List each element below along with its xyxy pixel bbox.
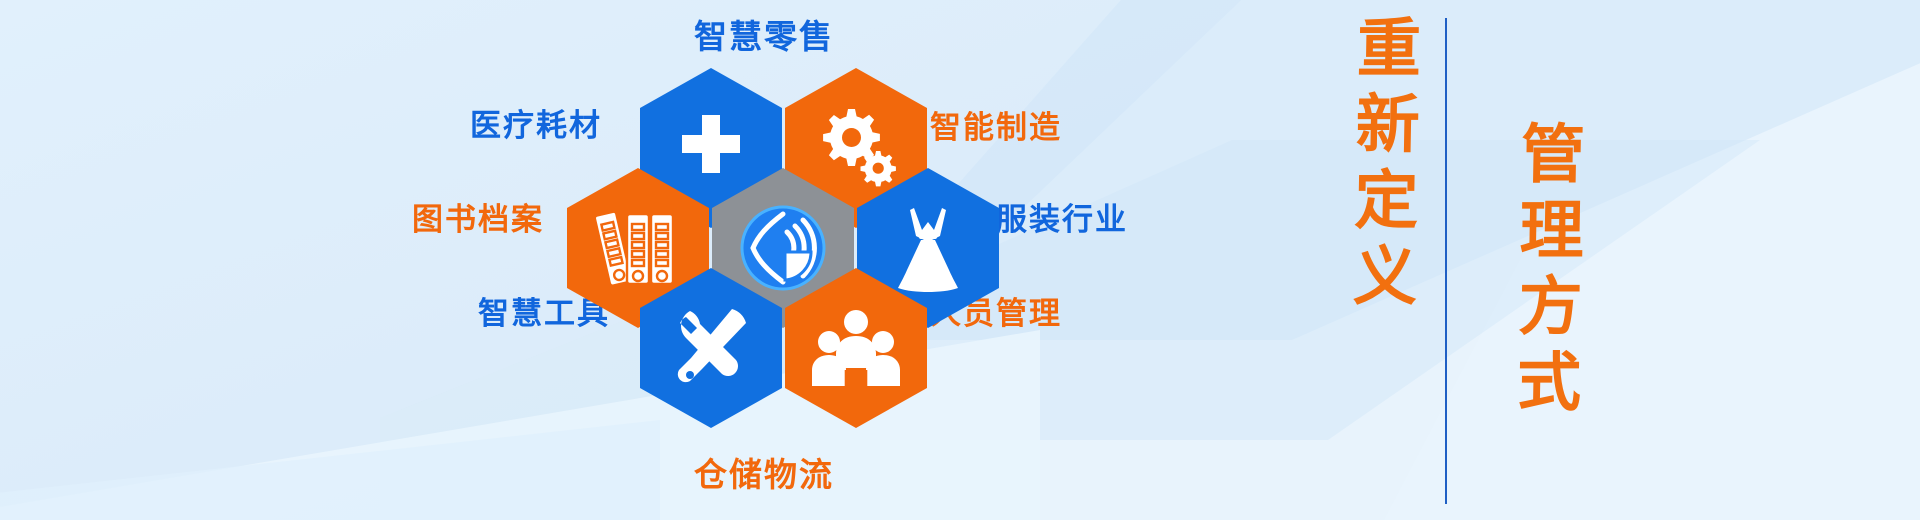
slogan-divider [1445, 18, 1447, 504]
label-smart-manufacturing: 智能制造 [930, 102, 1062, 147]
label-warehouse-logistics: 仓储物流 [694, 448, 834, 496]
gears-icon [814, 107, 898, 189]
label-smart-retail: 智慧零售 [694, 10, 834, 58]
wrench-screwdriver-icon [668, 305, 754, 391]
slogan-panel: 重新定义 管理方式 [1280, 0, 1680, 520]
rfid-signal-logo [737, 202, 829, 294]
file-binders-icon [594, 206, 682, 290]
slogan-left-column: 重新定义 [1299, 14, 1424, 318]
label-medical-supplies: 医疗耗材 [470, 100, 602, 145]
people-group-icon [812, 308, 900, 388]
dress-icon [888, 204, 968, 292]
label-book-archive: 图书档案 [412, 194, 544, 239]
medical-cross-icon [674, 111, 748, 185]
slogan-right-column: 管理方式 [1463, 120, 1588, 424]
banner-stage: 智慧零售 医疗耗材 智能制造 图书档案 服装行业 智慧工具 人员管理 仓储物流 [0, 0, 1920, 520]
label-apparel-industry: 服装行业 [996, 194, 1128, 239]
